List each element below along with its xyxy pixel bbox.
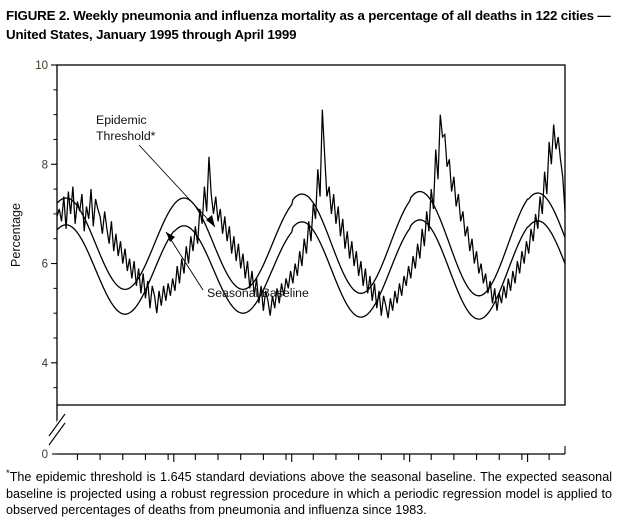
chart-figure: 4681001020304050199510203040501996102030… bbox=[0, 52, 618, 462]
page-title: FIGURE 2. Weekly pneumonia and influenza… bbox=[6, 6, 612, 44]
epidemic-threshold-label-line1: Epidemic bbox=[96, 113, 147, 127]
y-axis-title: Percentage bbox=[9, 203, 23, 267]
y-tick-label: 6 bbox=[42, 259, 48, 271]
seasonal-baseline-label: Seasonal Baseline bbox=[207, 286, 309, 300]
pneumonia-influenza-mortality-chart: 4681001020304050199510203040501996102030… bbox=[0, 52, 618, 462]
figure-footnote: *The epidemic threshold is 1.645 standar… bbox=[6, 466, 612, 519]
y-tick-label: 10 bbox=[35, 60, 48, 72]
epidemic-threshold-label-line2: Threshold* bbox=[96, 129, 156, 143]
y-tick-label: 8 bbox=[42, 159, 48, 171]
y-tick-label: 4 bbox=[42, 358, 49, 370]
epidemic-threshold-arrowhead bbox=[206, 215, 215, 227]
epidemic-threshold-leader bbox=[139, 145, 215, 227]
epidemic-threshold-curve bbox=[57, 192, 565, 296]
y-tick-label-zero: 0 bbox=[42, 449, 48, 461]
footnote-text: The epidemic threshold is 1.645 standard… bbox=[6, 470, 612, 517]
